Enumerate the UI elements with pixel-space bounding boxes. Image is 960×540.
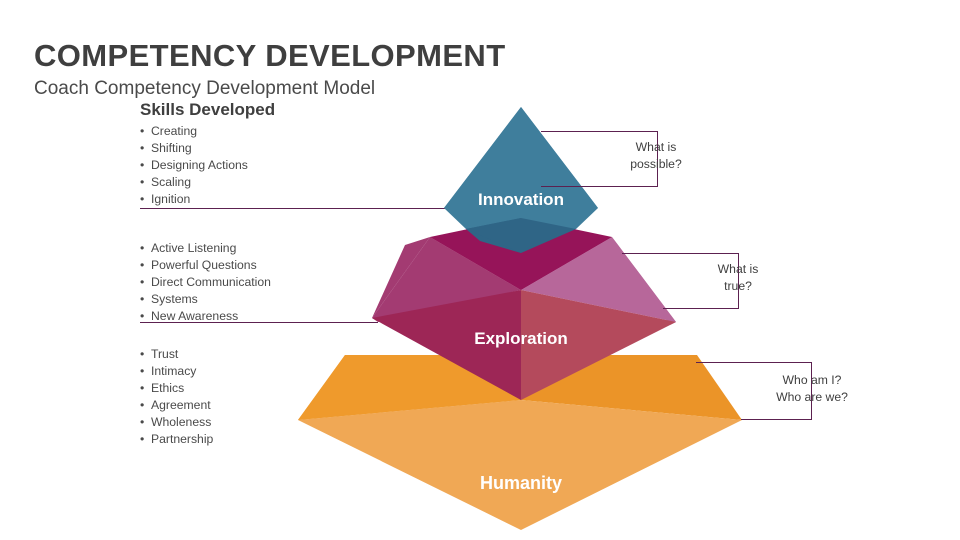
innovation-face-shoulder-right [521,107,598,237]
callout-exploration-top-line [622,253,739,254]
callout-humanity-bottom-line [741,419,812,420]
callout-exploration-line-2: true? [678,278,798,295]
callout-humanity-line-2: Who are we? [752,389,872,406]
callout-innovation-bottom-line [541,186,658,187]
callout-humanity-line-1: Who am I? [752,372,872,389]
callout-exploration-text: What is true? [678,261,798,295]
callout-exploration-line-1: What is [678,261,798,278]
callout-innovation-top-line [541,131,658,132]
innovation-face-shoulder-left [444,107,521,237]
pyramid-diagram: Humanity Exploration Innovation [0,0,960,540]
callout-innovation-line-2: possible? [596,156,716,173]
callout-exploration-bottom-line [663,308,739,309]
callout-innovation-line-1: What is [596,139,716,156]
callout-innovation-text: What is possible? [596,139,716,173]
humanity-face-front-left [298,400,521,530]
innovation-tier-label: Innovation [478,190,564,209]
callout-humanity-text: Who am I? Who are we? [752,372,872,406]
humanity-face-front-right [521,400,742,530]
callout-humanity-top-line [696,362,812,363]
exploration-tier-label: Exploration [474,329,568,348]
humanity-tier-label: Humanity [480,473,562,493]
